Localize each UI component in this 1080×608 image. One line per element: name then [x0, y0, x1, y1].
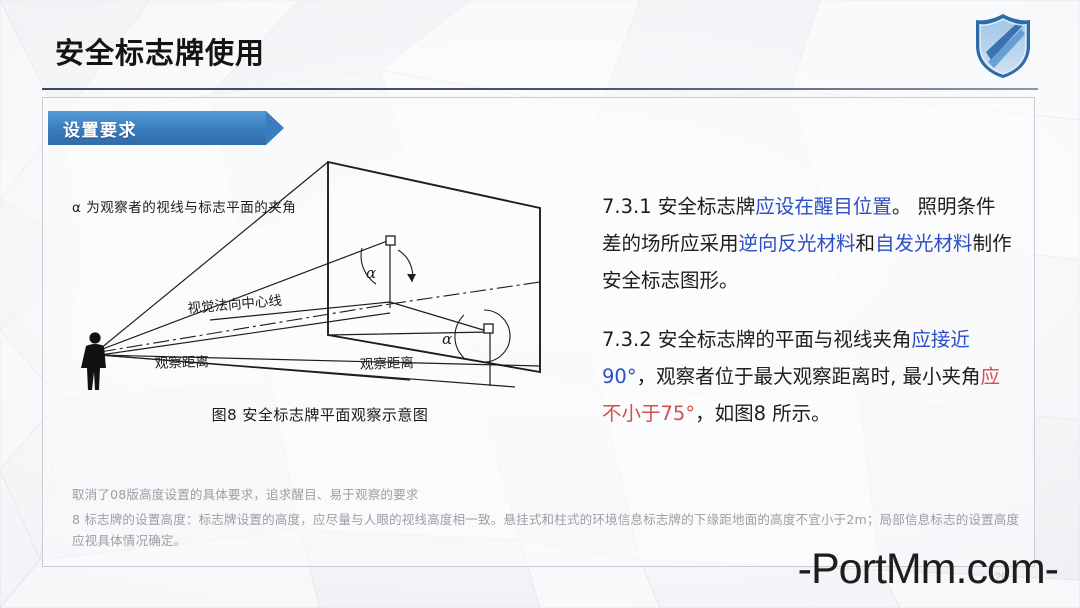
title-divider: [42, 88, 1038, 90]
footer-note-line-1: 取消了08版高度设置的具体要求，追求醒目、易于观察的要求: [72, 484, 1022, 505]
clause2-seg1: 7.3.2 安全标志牌的平面与视线夹角: [602, 328, 911, 351]
section-banner: 设置要求: [48, 111, 266, 145]
diagram-angle-upper-label: α: [366, 264, 376, 282]
clause1-highlight-1: 应设在醒目位置: [755, 195, 892, 218]
clause1-highlight-3: 自发光材料: [875, 232, 973, 255]
clause1-highlight-2: 逆向反光材料: [739, 232, 856, 255]
diagram-angle-lower-label: α: [442, 330, 452, 348]
diagram-distance-right-label: 观察距离: [360, 354, 415, 373]
person-silhouette-icon: [81, 332, 106, 390]
body-text: 7.3.1 安全标志牌应设在醒目位置。 照明条件差的场所应采用逆向反光材料和自发…: [602, 188, 1014, 454]
clause2-seg5: ，如图8 所示。: [695, 402, 831, 425]
figure-caption: 图8 安全标志牌平面观察示意图: [60, 404, 580, 425]
section-banner-arrow: [266, 111, 284, 145]
diagram-angle-note: α 为观察者的视线与标志平面的夹角: [72, 196, 296, 216]
clause-7-3-2: 7.3.2 安全标志牌的平面与视线夹角应接近90°，观察者位于最大观察距离时, …: [602, 321, 1014, 432]
clause2-seg3: ，观察者位于最大观察距离时, 最小夹角: [637, 365, 981, 388]
shield-logo-icon: [972, 12, 1034, 80]
diagram-center-line-label: 视觉法向中心线: [187, 293, 283, 317]
observation-diagram: α α 视觉法向中心线 观察距离 观察距离: [60, 150, 580, 440]
clause1-seg5: 和: [856, 232, 876, 255]
clause-7-3-1: 7.3.1 安全标志牌应设在醒目位置。 照明条件差的场所应采用逆向反光材料和自发…: [602, 188, 1014, 299]
page-title: 安全标志牌使用: [55, 30, 265, 72]
diagram-distance-left-label: 观察距离: [155, 353, 210, 372]
clause1-seg1: 7.3.1 安全标志牌: [602, 195, 755, 218]
site-watermark: -PortMm.com-: [798, 545, 1058, 594]
section-banner-label: 设置要求: [48, 116, 137, 141]
